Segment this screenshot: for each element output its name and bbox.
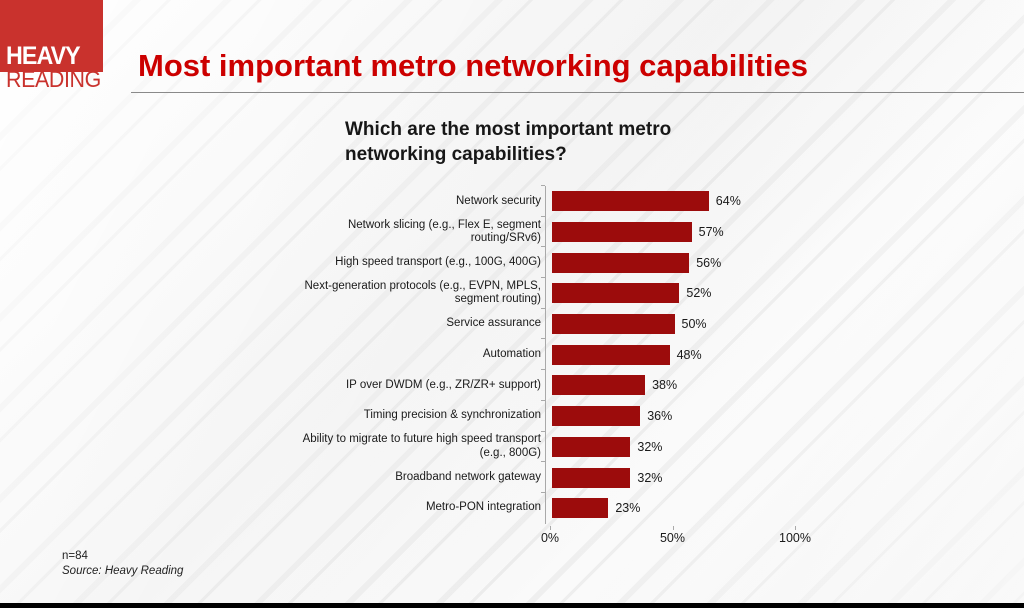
bar-row: Broadband network gateway32% [290, 462, 810, 493]
y-axis-tick [541, 246, 545, 247]
y-axis-tick [541, 492, 545, 493]
x-axis-tick [795, 526, 796, 530]
chart-title: Which are the most important metro netwo… [345, 117, 765, 167]
x-axis-tick [550, 526, 551, 530]
y-axis-tick [541, 216, 545, 217]
bar-zone: 23% [547, 493, 810, 524]
bar-value-label: 50% [682, 317, 707, 331]
bar [552, 253, 689, 273]
logo-reading-text: READING [6, 68, 101, 91]
x-axis-tick-label: 100% [779, 531, 811, 545]
bar-chart: Network security64%Network slicing (e.g.… [290, 186, 810, 526]
bar [552, 191, 709, 211]
source-label: Source: Heavy Reading [62, 564, 183, 579]
x-axis-tick-label: 0% [541, 531, 559, 545]
bar-zone: 57% [547, 217, 810, 248]
bar-zone: 50% [547, 309, 810, 340]
bar-row: Automation48% [290, 339, 810, 370]
bar-value-label: 32% [637, 471, 662, 485]
bar-category-label: IP over DWDM (e.g., ZR/ZR+ support) [290, 379, 547, 393]
bar [552, 345, 670, 365]
bar-value-label: 23% [615, 501, 640, 515]
bar-category-label: Next-generation protocols (e.g., EVPN, M… [290, 280, 547, 307]
bar-category-label: Broadband network gateway [290, 471, 547, 485]
bar [552, 375, 645, 395]
bar-value-label: 38% [652, 378, 677, 392]
bar-zone: 56% [547, 247, 810, 278]
bar-category-label: Network security [290, 195, 547, 209]
bar-zone: 38% [547, 370, 810, 401]
x-axis-tick [673, 526, 674, 530]
bar-value-label: 52% [686, 286, 711, 300]
bar [552, 406, 640, 426]
slide: HEAVY READING Most important metro netwo… [0, 0, 1024, 608]
title-divider [131, 92, 1024, 93]
bar-zone: 32% [547, 432, 810, 463]
bar [552, 468, 630, 488]
x-axis: 0%50%100% [290, 526, 810, 548]
bar-row: Network security64% [290, 186, 810, 217]
bar-row: IP over DWDM (e.g., ZR/ZR+ support)38% [290, 370, 810, 401]
y-axis-tick [541, 308, 545, 309]
page-title: Most important metro networking capabili… [138, 48, 808, 84]
bar-row: Timing precision & synchronization36% [290, 401, 810, 432]
bottom-black-bar [0, 603, 1024, 608]
heavy-reading-logo: HEAVY READING [0, 0, 103, 96]
bar [552, 498, 608, 518]
bar-category-label: Network slicing (e.g., Flex E, segment r… [290, 219, 547, 246]
bar [552, 437, 630, 457]
bar-row: Network slicing (e.g., Flex E, segment r… [290, 217, 810, 248]
bar-category-label: Ability to migrate to future high speed … [290, 433, 547, 460]
bar-value-label: 64% [716, 194, 741, 208]
bar-zone: 64% [547, 186, 810, 217]
bar-category-label: Service assurance [290, 317, 547, 331]
y-axis-tick [541, 461, 545, 462]
bar-row: Service assurance50% [290, 309, 810, 340]
x-axis-tick-label: 50% [660, 531, 685, 545]
y-axis-tick [541, 185, 545, 186]
chart-footnote: n=84 Source: Heavy Reading [62, 549, 183, 579]
y-axis-tick [541, 400, 545, 401]
y-axis-tick [541, 277, 545, 278]
bar [552, 283, 679, 303]
bar-zone: 48% [547, 339, 810, 370]
bar [552, 222, 692, 242]
bar-row: Next-generation protocols (e.g., EVPN, M… [290, 278, 810, 309]
sample-size: n=84 [62, 549, 183, 564]
bar [552, 314, 675, 334]
bar-row: Ability to migrate to future high speed … [290, 432, 810, 463]
bar-value-label: 57% [699, 225, 724, 239]
bar-value-label: 32% [637, 440, 662, 454]
bar-value-label: 36% [647, 409, 672, 423]
bar-category-label: Timing precision & synchronization [290, 409, 547, 423]
y-axis-tick [541, 369, 545, 370]
bar-zone: 36% [547, 401, 810, 432]
bar-zone: 32% [547, 462, 810, 493]
bar-category-label: Automation [290, 348, 547, 362]
bar-value-label: 48% [677, 348, 702, 362]
bar-row: High speed transport (e.g., 100G, 400G)5… [290, 247, 810, 278]
y-axis-tick [541, 338, 545, 339]
bar-category-label: High speed transport (e.g., 100G, 400G) [290, 256, 547, 270]
bar-category-label: Metro-PON integration [290, 501, 547, 515]
bar-zone: 52% [547, 278, 810, 309]
bar-value-label: 56% [696, 256, 721, 270]
y-axis-tick [541, 431, 545, 432]
bar-rows: Network security64%Network slicing (e.g.… [290, 186, 810, 524]
bar-row: Metro-PON integration23% [290, 493, 810, 524]
